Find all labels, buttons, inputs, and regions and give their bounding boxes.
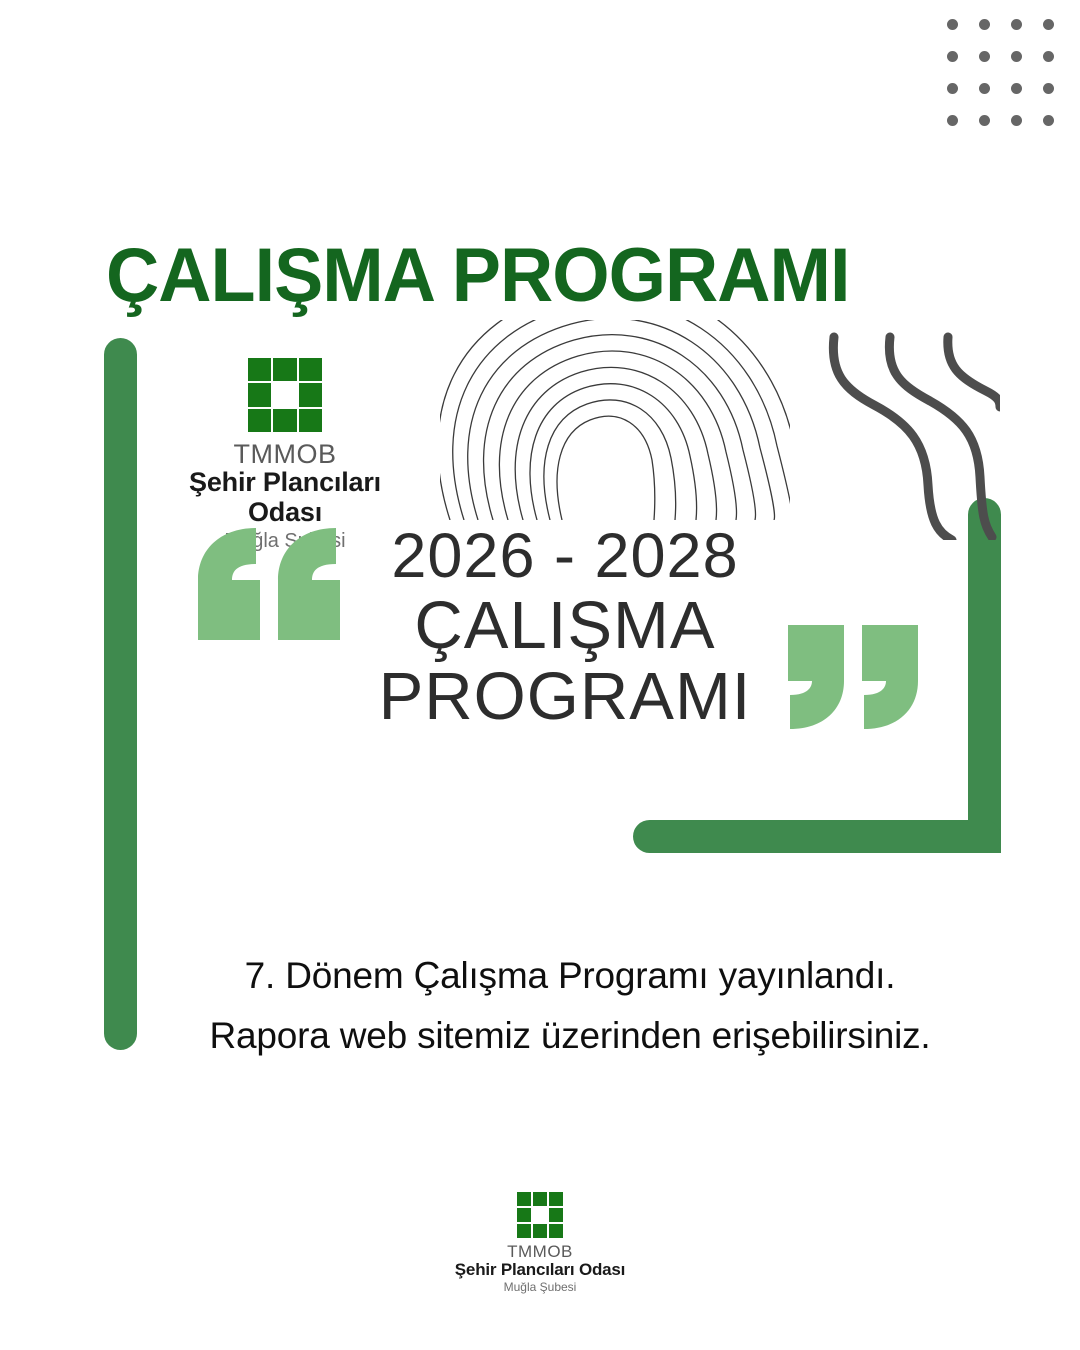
dot [947, 19, 958, 30]
logo-tmmob-text: TMMOB [160, 440, 410, 468]
quote-open-svg [198, 528, 340, 640]
logo-cell [517, 1208, 531, 1222]
card-title-block: 2026 - 2028 ÇALIŞMA PROGRAMI [330, 524, 800, 731]
logo-cell [299, 409, 322, 432]
logo-cell [299, 383, 322, 406]
description-line-1: 7. Dönem Çalışma Programı yayınlandı. [140, 946, 1000, 1006]
card-title-years: 2026 - 2028 [330, 524, 800, 588]
logo-cell [533, 1192, 547, 1206]
dot [1011, 19, 1022, 30]
tmmob-logo-footer: TMMOB Şehir Plancıları Odası Muğla Şubes… [430, 1192, 650, 1294]
logo-cell [517, 1192, 531, 1206]
dot [947, 115, 958, 126]
bottom-accent-bar [633, 820, 1001, 853]
logo-cell [273, 409, 296, 432]
logo-cell-center [273, 383, 296, 406]
logo-chamber-text-footer: Şehir Plancıları Odası [430, 1261, 650, 1280]
quote-close-icon [788, 625, 918, 734]
tmmob-grid-icon-footer [517, 1192, 563, 1238]
tmmob-logo-header: TMMOB Şehir Plancıları Odası Muğla Şubes… [160, 358, 410, 552]
logo-cell [248, 383, 271, 406]
quote-open-icon [198, 528, 340, 645]
contour-svg [440, 320, 790, 520]
dot [1043, 115, 1054, 126]
description-block: 7. Dönem Çalışma Programı yayınlandı. Ra… [140, 946, 1000, 1066]
dot [979, 83, 990, 94]
logo-cell [248, 358, 271, 381]
logo-cell [299, 358, 322, 381]
card-title-calisma: ÇALIŞMA [330, 592, 800, 660]
page-title: ÇALIŞMA PROGRAMI [106, 238, 850, 314]
card-title-programi: PROGRAMI [330, 663, 800, 731]
logo-cell [248, 409, 271, 432]
contour-lines-decoration [440, 320, 790, 520]
dot [979, 115, 990, 126]
logo-chamber-text: Şehir Plancıları Odası [160, 468, 410, 527]
dot [1043, 19, 1054, 30]
dot-grid-decoration [936, 8, 1064, 136]
logo-cell [273, 358, 296, 381]
logo-cell [517, 1224, 531, 1238]
logo-cell [549, 1224, 563, 1238]
left-accent-bar [104, 338, 137, 1050]
logo-cell-center [533, 1208, 547, 1222]
quote-close-svg [788, 625, 918, 729]
dot [1043, 51, 1054, 62]
logo-tmmob-text-footer: TMMOB [430, 1243, 650, 1261]
poster-canvas: ÇALIŞMA PROGRAMI [0, 0, 1080, 1350]
dot [979, 19, 990, 30]
logo-branch-text-footer: Muğla Şubesi [430, 1281, 650, 1294]
logo-cell [549, 1208, 563, 1222]
description-line-2: Rapora web sitemiz üzerinden erişebilirs… [140, 1006, 1000, 1066]
dot [947, 83, 958, 94]
dot [979, 51, 990, 62]
dot [1011, 83, 1022, 94]
dot [1043, 83, 1054, 94]
dot [947, 51, 958, 62]
dot [1011, 115, 1022, 126]
logo-cell [549, 1192, 563, 1206]
dot [1011, 51, 1022, 62]
tmmob-grid-icon [248, 358, 322, 432]
logo-cell [533, 1224, 547, 1238]
